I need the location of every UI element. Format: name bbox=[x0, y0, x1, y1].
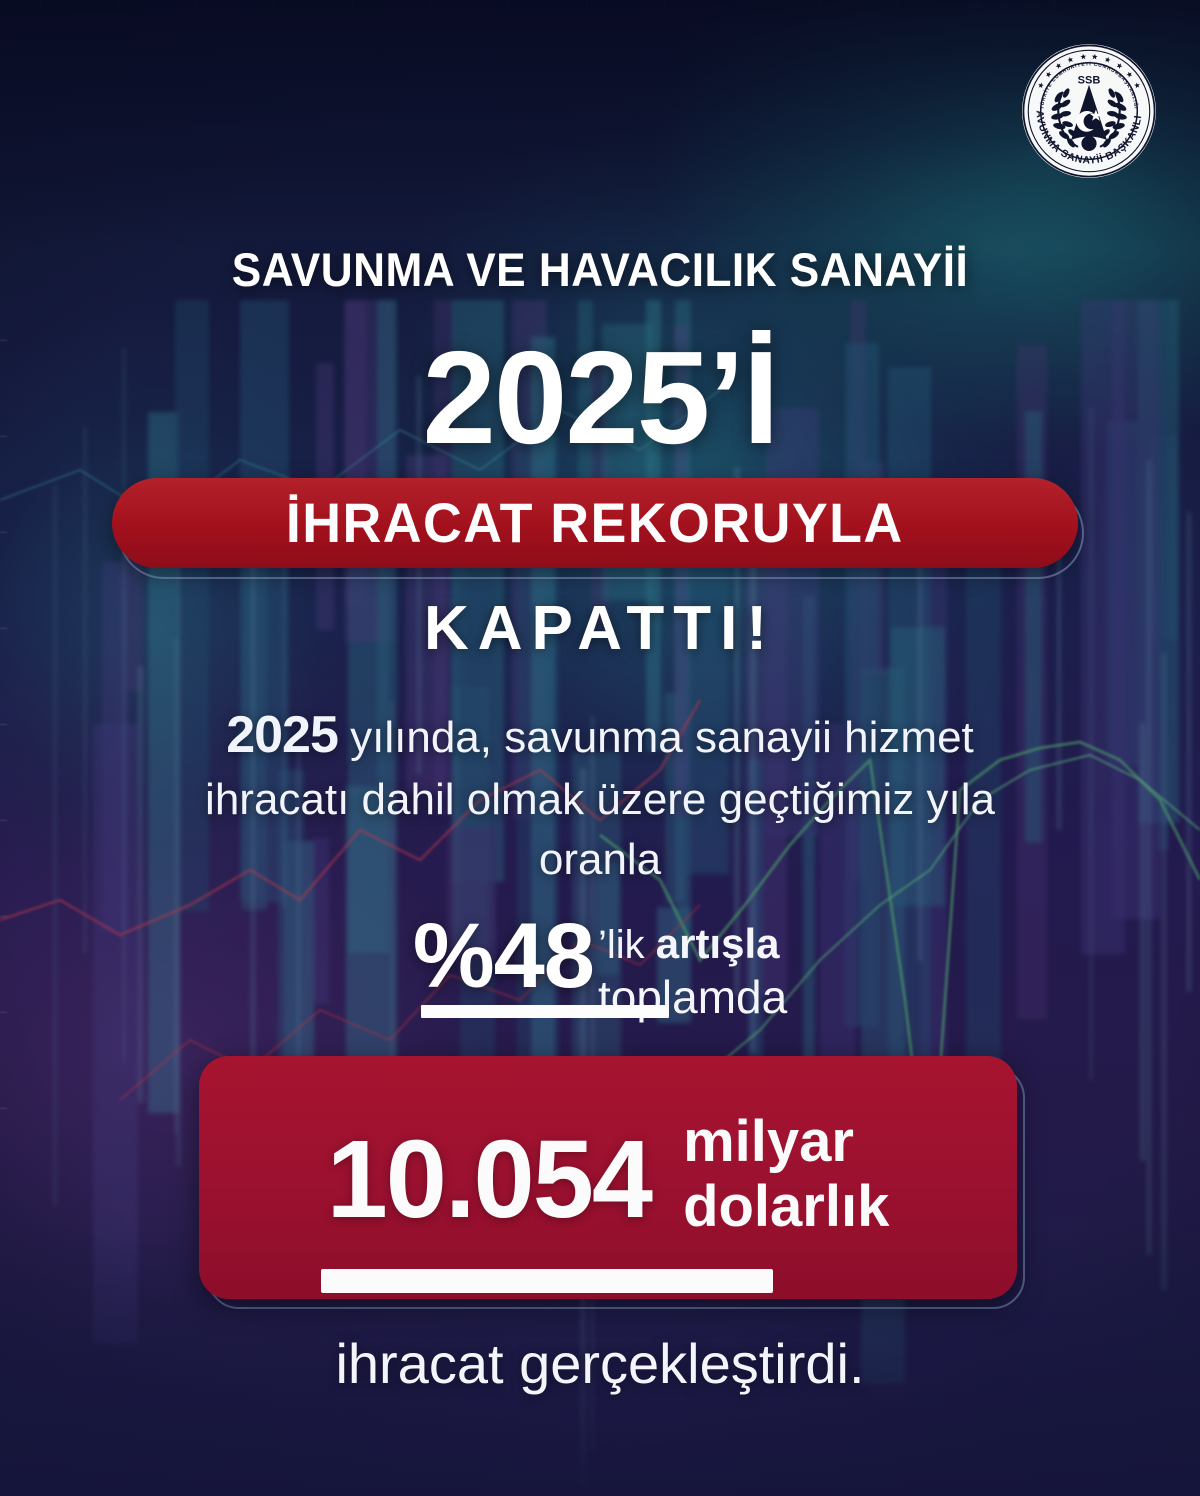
percent-suffix-bold: artışla bbox=[656, 920, 780, 967]
body-year-bold: 2025 bbox=[226, 706, 338, 764]
closing-statement: ihracat gerçekleştirdi. bbox=[0, 1336, 1200, 1392]
amount-value: 10.054 bbox=[327, 1125, 651, 1235]
percent-statistic: %48 ’lik artışla toplamda bbox=[0, 912, 1200, 1023]
banner-label: İHRACAT REKORUYLA bbox=[286, 495, 904, 551]
percent-value: %48 bbox=[413, 912, 594, 1000]
headline-kapatti: KAPATTI! bbox=[0, 598, 1200, 660]
amount-highlight-box: 10.054 milyar dolarlık bbox=[199, 1056, 1017, 1299]
highlight-banner: İHRACAT REKORUYLA bbox=[112, 478, 1078, 568]
amount-unit: milyar dolarlık bbox=[683, 1110, 889, 1246]
amount-unit-line1: milyar bbox=[683, 1110, 889, 1175]
percent-underline-bar bbox=[421, 1005, 669, 1018]
amount-box-inner: 10.054 milyar dolarlık bbox=[199, 1056, 1017, 1299]
infographic-poster: TÜRKİYE CUMHURİYETİ CUMHURBAŞKANLIĞI SAV… bbox=[0, 0, 1200, 1496]
body-paragraph: 2025 yılında, savunma sanayii hizmet ihr… bbox=[0, 700, 1200, 889]
poster-content: SAVUNMA VE HAVACILIK SANAYİİ 2025’İ İHRA… bbox=[0, 0, 1200, 1496]
headline-year: 2025’İ bbox=[0, 332, 1200, 464]
amount-underline-bar bbox=[321, 1269, 773, 1293]
amount-unit-line2: dolarlık bbox=[683, 1175, 889, 1240]
page-title-subheading: SAVUNMA VE HAVACILIK SANAYİİ bbox=[36, 246, 1164, 293]
percent-suffix-light: ’lik bbox=[598, 923, 656, 967]
amount-value-wrap: 10.054 bbox=[327, 1121, 651, 1235]
percent-value-wrap: %48 bbox=[413, 912, 594, 1000]
